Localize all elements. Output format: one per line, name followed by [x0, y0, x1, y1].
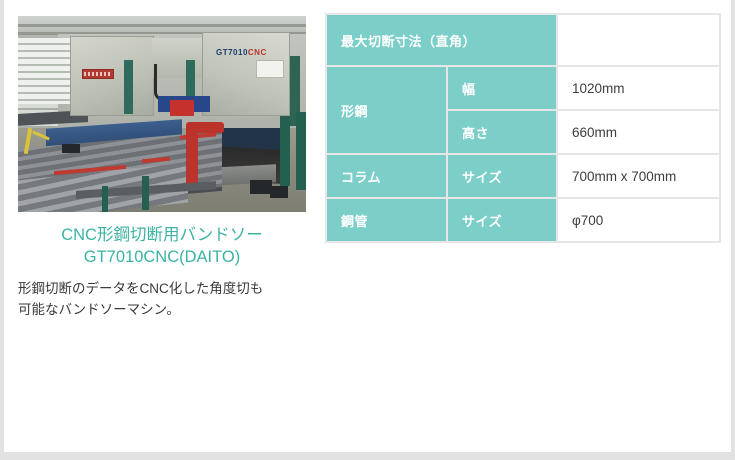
photo-red-tank — [170, 100, 194, 116]
spec-category-pipe: 鋼管 — [327, 199, 446, 241]
table-row: コラム サイズ 700mm x 700mm — [327, 155, 719, 197]
spec-value-column-size: 700mm x 700mm — [558, 155, 719, 197]
product-photo: GT7010CNC — [18, 16, 306, 212]
photo-green-frame — [296, 112, 306, 190]
photo-roof-beam — [18, 24, 306, 27]
product-description-line1: 形鋼切断のデータをCNC化した角度切も — [18, 278, 306, 299]
photo-green-frame — [102, 186, 108, 212]
product-block: GT7010CNC CNC形鋼切断用バンドソ — [18, 16, 306, 320]
product-title: CNC形鋼切断用バンドソー GT7010CNC(DAITO) — [18, 224, 306, 268]
spec-header-value — [558, 15, 719, 65]
spec-attribute-height: 高さ — [448, 111, 556, 153]
spec-value-pipe-size: φ700 — [558, 199, 719, 241]
product-description: 形鋼切断のデータをCNC化した角度切も 可能なバンドソーマシン。 — [18, 278, 306, 320]
photo-spec-plate — [256, 60, 284, 78]
page-container: GT7010CNC CNC形鋼切断用バンドソ — [4, 0, 731, 452]
photo-green-frame — [142, 176, 149, 210]
table-row: 形鋼 幅 1020mm — [327, 67, 719, 109]
photo-green-column — [124, 60, 133, 114]
photo-steel-block — [62, 144, 80, 153]
product-title-line2: GT7010CNC(DAITO) — [18, 246, 306, 268]
spec-attribute-width: 幅 — [448, 67, 556, 109]
table-row-header: 最大切断寸法（直角） — [327, 15, 719, 65]
photo-model-label-text: GT7010 — [216, 48, 248, 57]
spec-table: 最大切断寸法（直角） 形鋼 幅 1020mm 高さ 660mm コラム サイズ … — [325, 13, 721, 243]
photo-steel-block — [250, 180, 272, 194]
photo-window — [18, 38, 72, 104]
photo-steel-block — [270, 186, 288, 198]
spec-category-column: コラム — [327, 155, 446, 197]
spec-attribute-column-size: サイズ — [448, 155, 556, 197]
spec-value-height: 660mm — [558, 111, 719, 153]
spec-attribute-pipe-size: サイズ — [448, 199, 556, 241]
photo-model-label-cnc: CNC — [248, 48, 267, 57]
spec-category-katakou: 形鋼 — [327, 67, 446, 153]
product-title-line1: CNC形鋼切断用バンドソー — [18, 224, 306, 246]
photo-green-frame — [280, 116, 290, 186]
photo-daito-logo — [82, 69, 114, 79]
spec-header-label: 最大切断寸法（直角） — [327, 15, 556, 65]
table-row: 鋼管 サイズ φ700 — [327, 199, 719, 241]
photo-red-clamp-arm — [186, 124, 198, 190]
product-description-line2: 可能なバンドソーマシン。 — [18, 299, 306, 320]
photo-model-label: GT7010CNC — [216, 48, 267, 57]
spec-value-width: 1020mm — [558, 67, 719, 109]
